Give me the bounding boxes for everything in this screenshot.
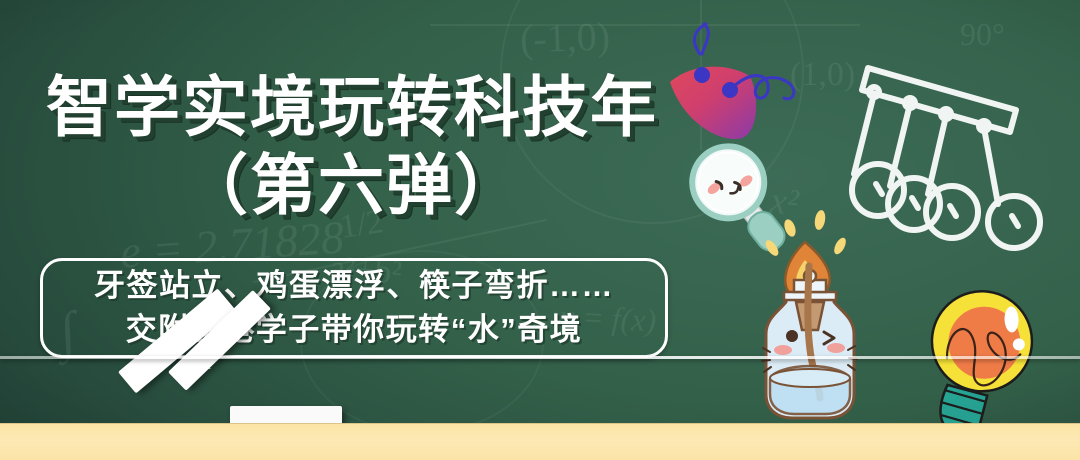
science-banner: e = 2.71828 (-1,0) a²+b² 1/2 x² ∫ y = f(… [0,0,1080,460]
chalk-tray-line [0,356,1080,359]
light-bulb-icon [900,280,1060,440]
bottom-bar [0,423,1080,460]
chalk-coordinate-neg: (-1,0) [519,12,611,62]
title-line-2: （第六弹） [42,152,662,218]
title-line-1: 智学实境玩转科技年 [42,74,662,140]
banner-title: 智学实境玩转科技年 （第六弹） [42,74,662,218]
subtitle-line-1: 牙签站立、鸡蛋漂浮、筷子弯折…… [94,264,614,308]
alcohol-lamp-icon [736,206,886,436]
subtitle-box: 牙签站立、鸡蛋漂浮、筷子弯折…… 交附空港学子带你玩转“水”奇境 [40,258,668,358]
chalk-angle: 90° [960,16,1005,53]
